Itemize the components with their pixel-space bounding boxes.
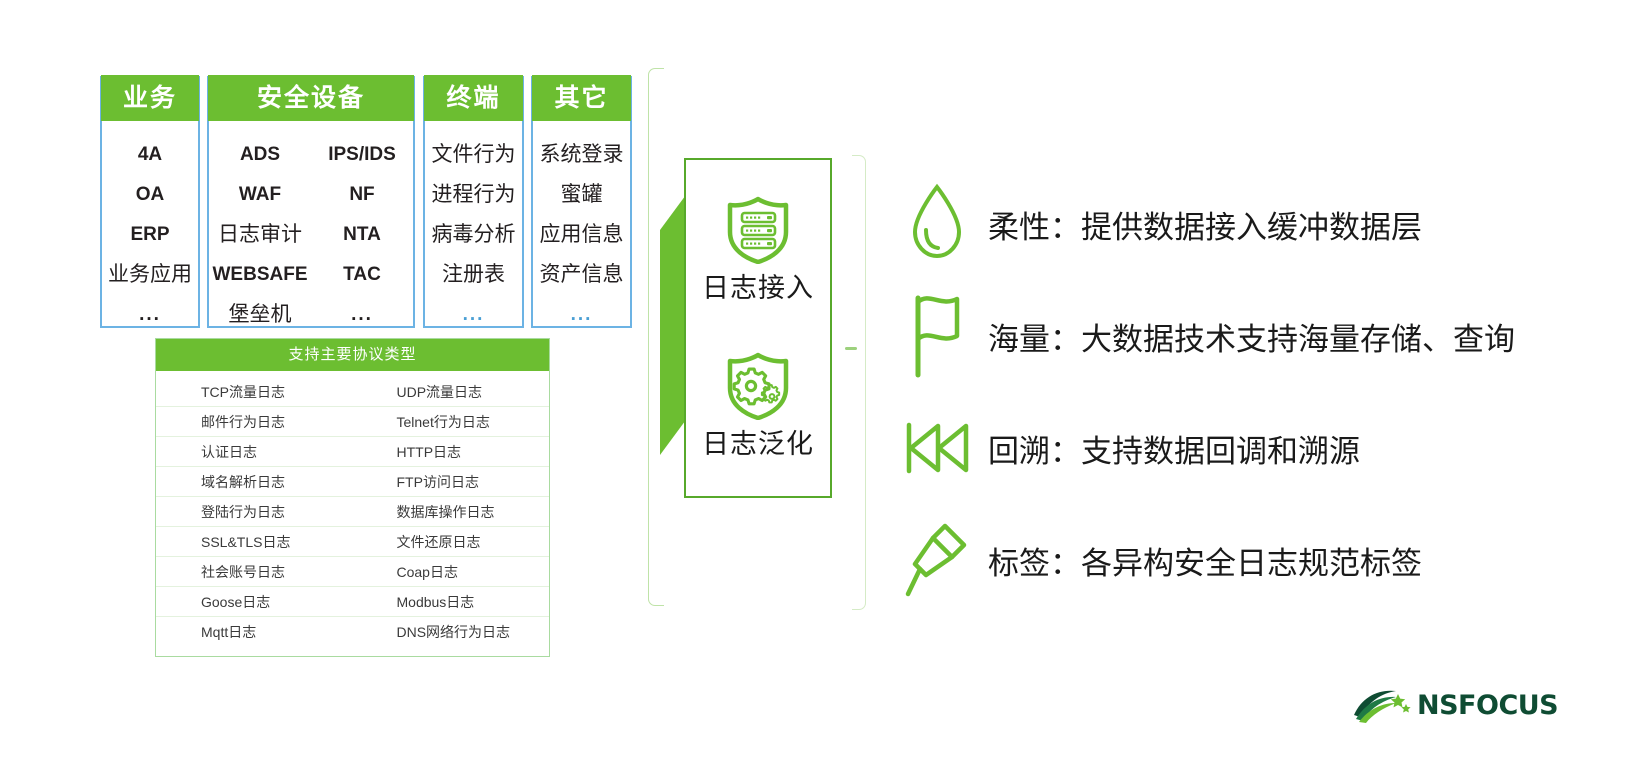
- feature-item-traceback: 回溯：支持数据回调和溯源: [900, 392, 1620, 504]
- table-row: TCP流量日志 UDP流量日志: [156, 377, 549, 407]
- nsfocus-wordmark: NSFOCUS: [1417, 690, 1558, 721]
- source-column-group: ADS WAF 日志审计 WEBSAFE 堡垒机: [209, 135, 311, 335]
- protocol-cell: UDP流量日志: [353, 382, 550, 402]
- source-item: 日志审计: [218, 215, 302, 255]
- source-item-ellipsis: ...: [571, 295, 593, 335]
- source-item: IPS/IDS: [328, 135, 396, 175]
- feature-icon-wrap: [900, 181, 974, 267]
- source-column-terminal: 终端 文件行为 进程行为 病毒分析 注册表 ...: [423, 76, 524, 328]
- source-column-group: 文件行为 进程行为 病毒分析 注册表 ...: [425, 135, 522, 335]
- protocol-cell: 登陆行为日志: [156, 502, 353, 522]
- source-item: 注册表: [442, 255, 505, 295]
- source-column-title: 安全设备: [208, 75, 414, 121]
- feature-item-massive-scale: 海量：大数据技术支持海量存储、查询: [900, 280, 1620, 392]
- nsfocus-logo: NSFOCUS: [1352, 682, 1542, 728]
- source-column-business: 业务 4A OA ERP 业务应用 ...: [100, 76, 200, 328]
- table-row: 登陆行为日志 数据库操作日志: [156, 497, 549, 527]
- source-item: TAC: [343, 255, 381, 295]
- protocol-cell: Mqtt日志: [156, 622, 353, 642]
- source-column-body: 文件行为 进程行为 病毒分析 注册表 ...: [425, 121, 522, 345]
- source-item-ellipsis: ...: [139, 295, 161, 335]
- source-item: 系统登录: [540, 135, 624, 175]
- feature-text: 标签：各异构安全日志规范标签: [988, 538, 1422, 583]
- protocol-cell: Telnet行为日志: [353, 412, 550, 432]
- shield-server-icon: [725, 196, 791, 264]
- feature-text: 海量：大数据技术支持海量存储、查询: [988, 314, 1515, 359]
- source-item: WEBSAFE: [213, 255, 308, 295]
- process-step-label: 日志接入: [702, 266, 814, 305]
- table-row: Mqtt日志 DNS网络行为日志: [156, 617, 549, 646]
- table-row: 社会账号日志 Coap日志: [156, 557, 549, 587]
- source-item: ERP: [130, 215, 169, 255]
- source-column-title: 终端: [424, 75, 523, 121]
- source-column-security-devices: 安全设备 ADS WAF 日志审计 WEBSAFE 堡垒机 IPS/IDS NF…: [207, 76, 415, 328]
- feature-text: 柔性：提供数据接入缓冲数据层: [988, 202, 1422, 247]
- source-item: 业务应用: [108, 255, 192, 295]
- feature-item-tagging: 标签：各异构安全日志规范标签: [900, 504, 1620, 616]
- protocol-cell: 域名解析日志: [156, 472, 353, 492]
- process-step-log-ingest: 日志接入: [702, 196, 814, 305]
- source-column-body: 4A OA ERP 业务应用 ...: [102, 121, 198, 345]
- right-bracket-pointer: [845, 347, 857, 350]
- source-column-group: 4A OA ERP 业务应用 ...: [102, 135, 198, 335]
- process-box: 日志接入 日志泛化: [684, 158, 832, 498]
- table-row: Goose日志 Modbus日志: [156, 587, 549, 617]
- source-column-title: 其它: [532, 75, 631, 121]
- source-column-group: IPS/IDS NF NTA TAC ...: [311, 135, 413, 335]
- source-item: NF: [349, 175, 374, 215]
- source-column-other: 其它 系统登录 蜜罐 应用信息 资产信息 ...: [531, 76, 632, 328]
- table-row: SSL&TLS日志 文件还原日志: [156, 527, 549, 557]
- protocol-cell: 社会账号日志: [156, 562, 353, 582]
- source-item: 蜜罐: [561, 175, 603, 215]
- source-item: 堡垒机: [229, 295, 292, 335]
- protocol-cell: Goose日志: [156, 592, 353, 612]
- feature-item-flexibility: 柔性：提供数据接入缓冲数据层: [900, 168, 1620, 280]
- protocol-cell: Coap日志: [353, 562, 550, 582]
- source-item: 文件行为: [432, 135, 516, 175]
- source-column-group: 系统登录 蜜罐 应用信息 资产信息 ...: [533, 135, 630, 335]
- table-row: 认证日志 HTTP日志: [156, 437, 549, 467]
- protocol-cell: 认证日志: [156, 442, 353, 462]
- feature-icon-wrap: [900, 293, 974, 379]
- protocol-cell: HTTP日志: [353, 442, 550, 462]
- protocol-cell: DNS网络行为日志: [353, 622, 550, 642]
- source-item: 资产信息: [540, 255, 624, 295]
- process-step-label: 日志泛化: [702, 422, 814, 461]
- feature-text: 回溯：支持数据回调和溯源: [988, 426, 1360, 471]
- source-column-body: 系统登录 蜜罐 应用信息 资产信息 ...: [533, 121, 630, 345]
- shield-gear-icon: [725, 352, 791, 420]
- feature-icon-wrap: [900, 517, 974, 603]
- protocol-panel: 支持主要协议类型 TCP流量日志 UDP流量日志 邮件行为日志 Telnet行为…: [155, 338, 550, 657]
- source-item: ADS: [240, 135, 280, 175]
- source-item: 进程行为: [432, 175, 516, 215]
- source-item: NTA: [343, 215, 381, 255]
- protocol-cell: 文件还原日志: [353, 532, 550, 552]
- source-item: 应用信息: [540, 215, 624, 255]
- protocol-cell: 邮件行为日志: [156, 412, 353, 432]
- source-item-ellipsis: ...: [463, 295, 485, 335]
- protocol-cell: TCP流量日志: [156, 382, 353, 402]
- process-step-log-normalize: 日志泛化: [702, 352, 814, 461]
- protocol-panel-title: 支持主要协议类型: [156, 339, 549, 371]
- table-row: 邮件行为日志 Telnet行为日志: [156, 407, 549, 437]
- source-column-title: 业务: [101, 75, 199, 121]
- source-item: 4A: [138, 135, 162, 175]
- source-item-ellipsis: ...: [351, 295, 373, 335]
- source-item: WAF: [239, 175, 281, 215]
- diagram-canvas: 业务 4A OA ERP 业务应用 ... 安全设备 ADS WAF 日志审计 …: [0, 0, 1650, 774]
- right-grouping-bracket: [852, 155, 866, 610]
- protocol-cell: SSL&TLS日志: [156, 532, 353, 552]
- protocol-cell: Modbus日志: [353, 592, 550, 612]
- feature-list: 柔性：提供数据接入缓冲数据层 海量：大数据技术支持海量存储、查询 回溯：支持数据…: [900, 168, 1620, 618]
- flag-icon: [907, 293, 967, 379]
- protocol-cell: FTP访问日志: [353, 472, 550, 492]
- source-column-body: ADS WAF 日志审计 WEBSAFE 堡垒机 IPS/IDS NF NTA …: [209, 121, 413, 345]
- source-item: OA: [136, 175, 165, 215]
- pin-icon: [904, 520, 970, 600]
- nsfocus-logomark-icon: [1352, 685, 1414, 725]
- feature-icon-wrap: [900, 405, 974, 491]
- protocol-cell: 数据库操作日志: [353, 502, 550, 522]
- table-row: 域名解析日志 FTP访问日志: [156, 467, 549, 497]
- water-drop-icon: [907, 182, 967, 266]
- source-item: 病毒分析: [432, 215, 516, 255]
- protocol-table: TCP流量日志 UDP流量日志 邮件行为日志 Telnet行为日志 认证日志 H…: [156, 371, 549, 646]
- rewind-icon: [904, 419, 970, 477]
